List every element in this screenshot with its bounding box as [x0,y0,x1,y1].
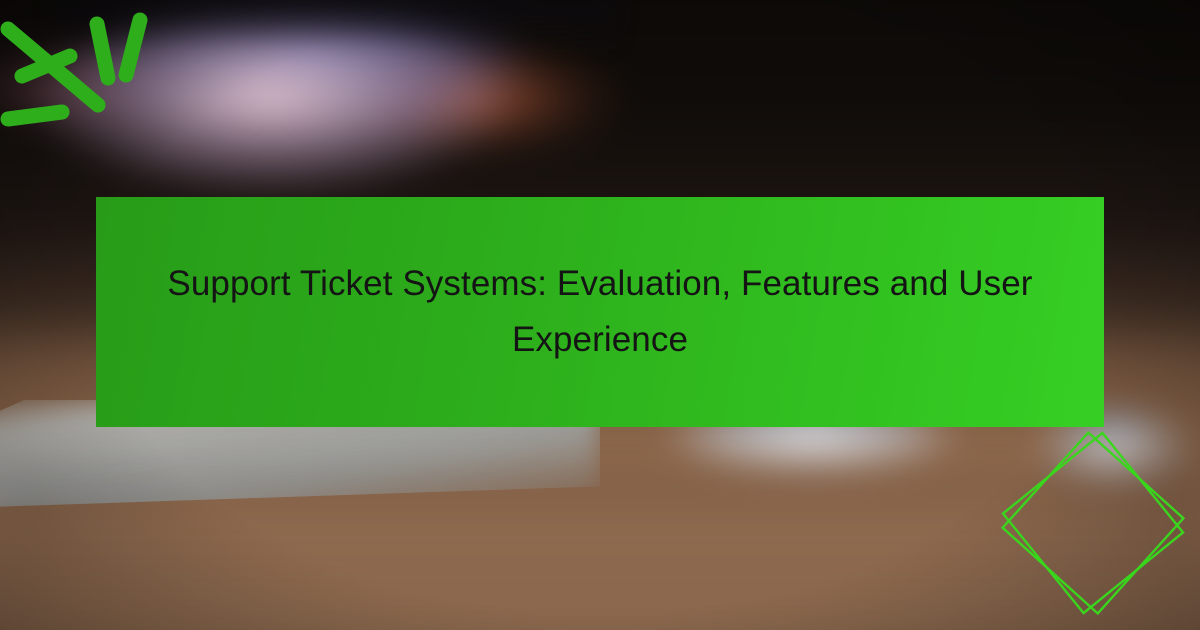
page-title: Support Ticket Systems: Evaluation, Feat… [136,256,1063,368]
title-banner: Support Ticket Systems: Evaluation, Feat… [96,197,1104,427]
share-card-canvas: Support Ticket Systems: Evaluation, Feat… [0,0,1200,630]
diamond-outline-2 [1003,433,1183,613]
sparkle-ray-1 [8,112,62,119]
sparkle-ray-4 [97,24,108,78]
diamond-outline-1 [1003,433,1184,614]
sparkle-ray-3 [8,29,98,105]
sparkle-burst-icon [0,0,190,160]
sparkle-ray-5 [126,20,140,75]
diamond-outline-icon [985,415,1200,630]
